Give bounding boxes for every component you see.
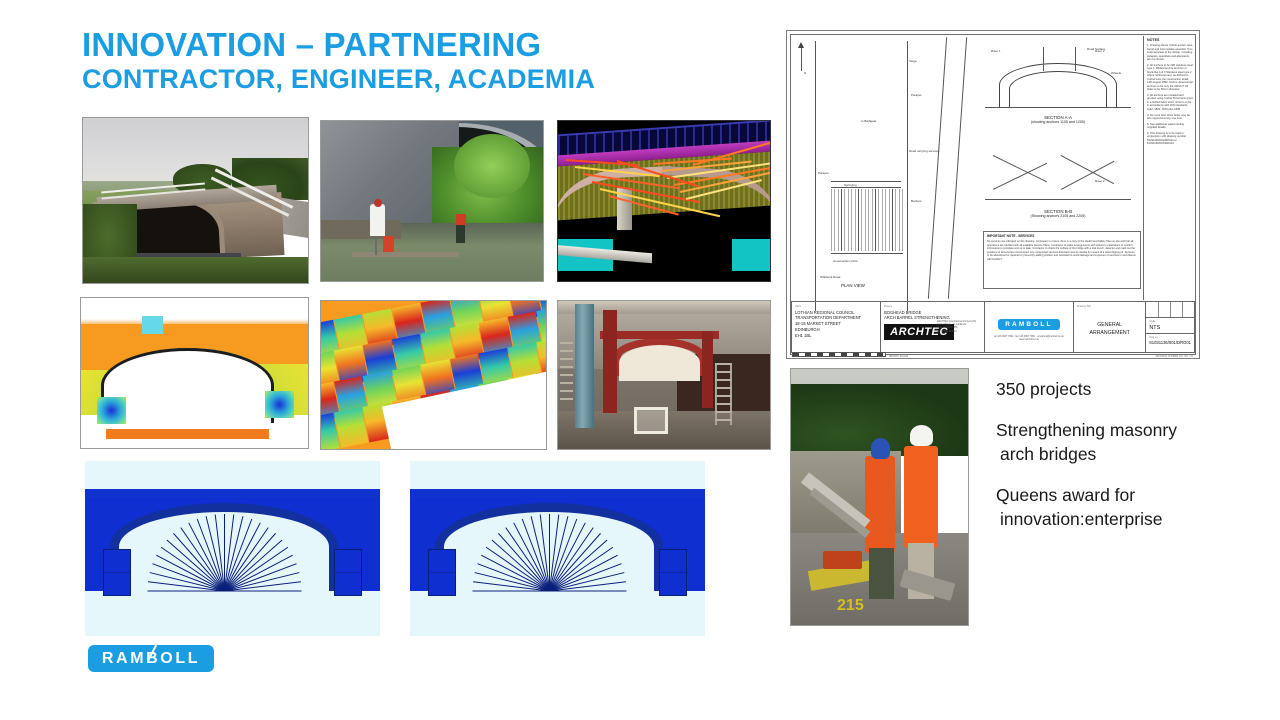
drawing-number-cell: Dwg no. 61031136/001/DRG01: [1146, 334, 1194, 348]
label-road-surface: Road Surface: [1087, 47, 1105, 51]
label-wheels: Wheels: [1111, 71, 1121, 75]
note-item: 4. No more than three holes may be left …: [1147, 114, 1193, 121]
anchor-drilling-photo: 215: [790, 368, 969, 626]
ramboll-logo: RAMBOLL: [998, 319, 1059, 330]
rev-col: [1171, 302, 1183, 317]
anchor-line-2: [1075, 47, 1076, 71]
drawing-footer-note: DRAWING NUMBER 001 -001 / 01: [1156, 355, 1193, 358]
arch-intrados: [1009, 71, 1107, 107]
rev-col: [1183, 302, 1194, 317]
text-block: 350 projects: [996, 378, 1272, 401]
drawing-no-value: 61031136/001/DRG01: [1149, 340, 1191, 345]
archtec-address: ARCHTEC International Limited (UK) Corbe…: [937, 320, 981, 333]
section-bb-geometry: Riser 2: [983, 135, 1133, 207]
engineering-drawing: N to Bathgate Parapet Springing Construc…: [786, 30, 1200, 359]
text-line: arch bridges: [996, 443, 1272, 466]
scale-bar: [792, 352, 886, 357]
project-cell: Project BOGHEAD BRIDGE ARCH BARREL STREN…: [881, 302, 985, 352]
plan-joint-line: [831, 187, 901, 188]
worker-trousers: [869, 548, 894, 599]
note-item: 6. This drawing is to be read in conjunc…: [1147, 132, 1193, 146]
base-support: [106, 429, 269, 440]
3d-anchor-model-render: [557, 120, 771, 282]
page-title: INNOVATION – PARTNERING CONTRACTOR, ENGI…: [82, 28, 595, 95]
notes-heading: NOTES: [1147, 38, 1193, 42]
label-riser-bb: Riser 2: [1095, 179, 1105, 183]
label-whitbeck-road: Whitbeck Road: [820, 275, 840, 279]
fe-mesh-model-right: [410, 461, 705, 636]
scale-cell: Scale NTS: [1146, 318, 1194, 334]
section-aa-geometry: Riser 1 Riser 2 Wheels: [983, 45, 1133, 111]
north-arrow-stem: [801, 45, 802, 71]
note-item: 3. All anchors are installed and grouted…: [1147, 94, 1193, 112]
revision-grid: [1146, 302, 1194, 318]
text-line: Strengthening masonry: [996, 419, 1272, 442]
label-parapet: Parapet: [818, 171, 829, 175]
label-springing: Springing: [844, 183, 857, 187]
plan-edge-left: [815, 41, 816, 311]
section-base-line: [985, 107, 1131, 108]
ramboll-cell: RAMBOLL tel 123 4567 7890 · fax 123 4567…: [985, 302, 1074, 352]
paint-marking-text: 215: [837, 597, 865, 620]
river-survey-photo: [320, 120, 544, 282]
ramboll-logo-wrap: RAMBOLL: [988, 313, 1070, 331]
ramboll-address: tel 123 4567 7890 · fax 123 4567 7891 · …: [988, 335, 1070, 342]
north-arrow-head: [798, 42, 804, 48]
anchor-line-1: [1043, 47, 1044, 71]
drawing-title-block: Client LOTHIAN REGIONAL COUNCIL TRANSPOR…: [791, 301, 1195, 353]
plan-bottom-line: [831, 253, 903, 254]
stone-arch-bridge-photo: [82, 117, 309, 284]
drill-rig-base: [823, 551, 862, 569]
fea-arch-contour-plot: [80, 297, 309, 449]
abutment-right: [732, 239, 770, 271]
section-bb-caption: SECTION B-B (Showing anchors 2105 and 22…: [993, 209, 1123, 218]
crossing-anchor-3: [1061, 161, 1114, 190]
worker-blue-helmet-vest: [865, 456, 895, 553]
abutment-right-elements: [334, 549, 363, 597]
plan-anchor-hatch: [831, 189, 903, 251]
note-item: 2. All anchors to be N/R stainless steel…: [1147, 64, 1193, 92]
section-aa-caption: SECTION A-A (showing anchors 1105 and 12…: [993, 115, 1123, 124]
reaction-frame-left: [603, 310, 618, 414]
text-line: Queens award for: [996, 484, 1272, 507]
crossing-anchor-4: [1061, 155, 1114, 184]
test-arch-inner: [619, 345, 700, 381]
scale-note: METRIC SCALE: [889, 355, 908, 358]
drawing-title-cell: Drawing Title GENERAL ARRANGEMENT: [1074, 302, 1146, 352]
note-item: 1. Drawing shows Corbel anchor, face, ba…: [1147, 44, 1193, 62]
project-tag: Project: [884, 305, 981, 308]
label-riser-1: Riser 1: [991, 49, 1001, 53]
drawing-no-tag: Dwg no.: [1149, 336, 1191, 339]
laboratory-arch-test-photo: [557, 300, 771, 450]
foreground-grass: [83, 257, 308, 283]
hotspot-right: [265, 391, 295, 418]
worker-white-helmet-vest: [904, 446, 938, 548]
scale-value: NTS: [1149, 325, 1191, 331]
scale-tag: Scale: [1149, 320, 1191, 323]
reaction-frame-right: [702, 331, 713, 408]
north-label: N: [804, 71, 806, 75]
rev-col: [1159, 302, 1171, 317]
ladder-right: [715, 363, 732, 425]
drawing-title-tag: Drawing Title: [1077, 305, 1142, 308]
title-line-secondary: CONTRACTOR, ENGINEER, ACADEMIA: [82, 64, 595, 94]
abutment-left-elements: [103, 549, 132, 597]
voussoir-joint: [224, 590, 301, 591]
crossing-anchor-2: [993, 155, 1047, 182]
crossing-anchor-1: [993, 163, 1047, 190]
client-cell: Client LOTHIAN REGIONAL COUNCIL TRANSPOR…: [792, 302, 881, 352]
wading-worker-vest: [456, 214, 466, 225]
blue-column: [575, 304, 594, 428]
fe-mesh-model-left: [85, 461, 380, 636]
blue-helmet: [871, 438, 890, 458]
important-note-body: No services are indicated on this drawin…: [987, 240, 1137, 261]
fea-voussoir-detail-plot: [320, 300, 547, 450]
client-value: LOTHIAN REGIONAL COUNCIL TRANSPORTATION …: [795, 310, 877, 339]
label-borders: Borders: [911, 199, 922, 203]
ramboll-logo: RAMBOLL: [88, 645, 214, 672]
abutment-right-elements: [659, 549, 688, 597]
revision-scale-cell: Scale NTS Dwg no. 61031136/001/DRG01: [1146, 302, 1194, 352]
text-line: 350 projects: [996, 378, 1272, 401]
right-text-column: 350 projects Strengthening masonry arch …: [996, 378, 1272, 549]
drawing-title-value: GENERAL ARRANGEMENT: [1077, 322, 1142, 338]
ladder-left: [560, 342, 573, 401]
title-line-primary: INNOVATION – PARTNERING: [82, 28, 595, 62]
abutment-left-elements: [428, 549, 457, 597]
hotspot-left: [97, 397, 127, 424]
white-crate: [634, 407, 668, 434]
text-line: innovation:enterprise: [996, 508, 1272, 531]
label-to-bathgate: to Bathgate: [861, 119, 876, 123]
voussoir-cell: [333, 407, 368, 447]
section-aa-subtitle: (showing anchors 1105 and 1205): [993, 120, 1123, 124]
label-verge: Verge: [909, 59, 917, 63]
important-note-box: IMPORTANT NOTE - SERVICES No services ar…: [983, 231, 1141, 289]
note-item: 5. See additional waterproofing supplied…: [1147, 123, 1193, 130]
drawing-notes-panel: NOTES 1. Drawing shows Corbel anchor, fa…: [1143, 36, 1195, 300]
rev-col: [1146, 302, 1158, 317]
important-note-title: IMPORTANT NOTE - SERVICES: [987, 234, 1137, 238]
arch-ring-outline: [101, 348, 274, 423]
voussoir-joint: [549, 590, 626, 591]
section-bb-subtitle: (Showing anchors 2105 and 2205): [993, 214, 1123, 218]
plan-view-caption: PLAN VIEW: [823, 283, 883, 288]
label-parapet-2: Parapet: [911, 93, 922, 97]
equipment-bag: [383, 236, 394, 252]
load-patch: [142, 316, 162, 334]
label-road-services: Road carrying services: [909, 149, 940, 153]
foliage-upper: [454, 134, 529, 198]
client-tag: Client: [795, 305, 877, 308]
surveyor-figure: [370, 204, 386, 236]
plan-edge-right: [907, 41, 908, 311]
label-construction-joints: Construction joints: [833, 259, 858, 263]
text-block: Strengthening masonry arch bridges: [996, 419, 1272, 466]
white-helmet: [910, 425, 933, 445]
section-bb-base: [985, 199, 1131, 200]
plan-springing-line: [831, 181, 901, 182]
text-block: Queens award for innovation:enterprise: [996, 484, 1272, 531]
